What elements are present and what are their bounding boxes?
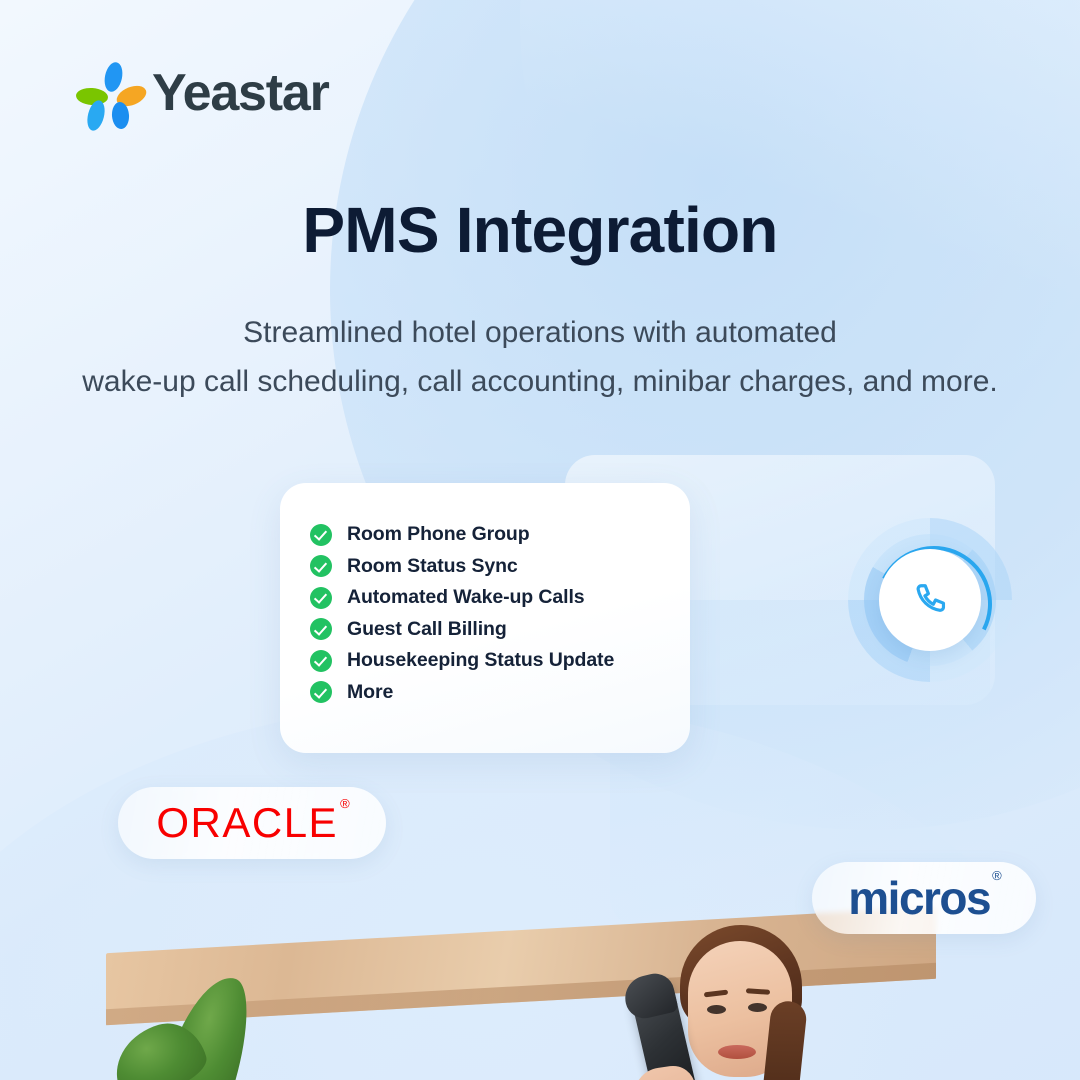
subtitle-line-1: Streamlined hotel operations with automa…	[0, 309, 1080, 358]
oracle-wordmark: ORACLE®	[156, 802, 347, 844]
check-circle-icon	[310, 650, 332, 672]
check-circle-icon	[310, 681, 332, 703]
list-item: Room Status Sync	[310, 551, 690, 583]
micros-label: micros	[848, 872, 990, 924]
list-item: Housekeeping Status Update	[310, 645, 690, 677]
brand-wordmark: Yeastar	[152, 67, 329, 119]
oracle-registered-mark: ®	[340, 796, 350, 811]
list-item: Guest Call Billing	[310, 614, 690, 646]
phone-badge-circle	[879, 549, 981, 651]
feature-label: Guest Call Billing	[347, 618, 507, 641]
feature-label: Automated Wake-up Calls	[347, 586, 585, 609]
micros-wordmark: micros®	[848, 875, 999, 921]
yeastar-pinwheel-icon	[76, 62, 138, 124]
lips	[718, 1045, 756, 1059]
check-circle-icon	[310, 618, 332, 640]
page-subtitle: Streamlined hotel operations with automa…	[0, 309, 1080, 406]
list-item: Room Phone Group	[310, 519, 690, 551]
potted-plant	[75, 970, 305, 1080]
check-circle-icon	[310, 555, 332, 577]
phone-handset-icon	[911, 581, 949, 619]
partner-badge-micros[interactable]: micros®	[812, 862, 1036, 934]
petal-top-blue	[102, 61, 125, 94]
micros-registered-mark: ®	[992, 868, 1002, 883]
feature-label: Housekeeping Status Update	[347, 649, 614, 672]
list-item: More	[310, 677, 690, 709]
feature-list: Room Phone Group Room Status Sync Automa…	[310, 519, 690, 708]
page-title: PMS Integration	[0, 197, 1080, 264]
brand-logo[interactable]: Yeastar	[76, 62, 329, 124]
subtitle-line-2: wake-up call scheduling, call accounting…	[0, 358, 1080, 407]
eye-left	[707, 1005, 726, 1014]
phone-badge	[848, 518, 1018, 688]
check-circle-icon	[310, 524, 332, 546]
feature-label: Room Phone Group	[347, 523, 530, 546]
feature-label: Room Status Sync	[347, 555, 518, 578]
eye-right	[748, 1003, 767, 1012]
feature-list-card: Room Phone Group Room Status Sync Automa…	[280, 483, 690, 753]
oracle-label: ORACLE	[156, 799, 338, 846]
list-item: Automated Wake-up Calls	[310, 582, 690, 614]
pms-integration-promo-graphic: Yeastar PMS Integration Streamlined hote…	[0, 0, 1080, 1080]
feature-label: More	[347, 681, 393, 704]
check-circle-icon	[310, 587, 332, 609]
partner-badge-oracle[interactable]: ORACLE®	[118, 787, 386, 859]
